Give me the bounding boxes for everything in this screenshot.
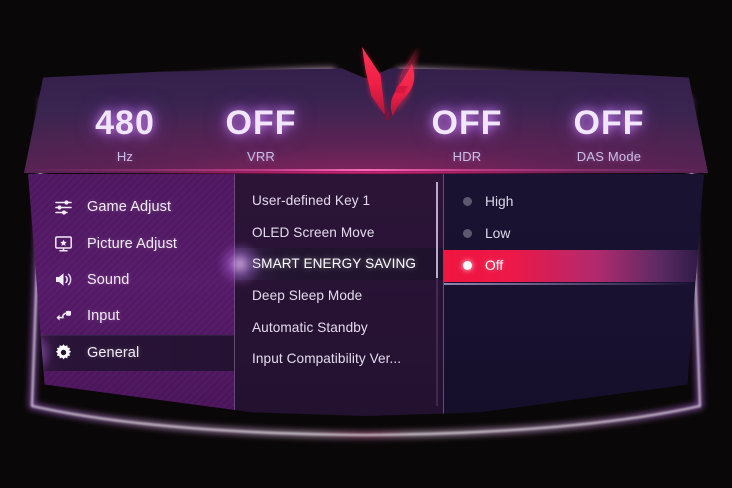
option-item-low[interactable]: Low [444, 217, 708, 249]
submenu-item-oled-screen-move[interactable]: OLED Screen Move [235, 217, 443, 249]
sidebar-item-label: General [87, 345, 139, 361]
status-label: DAS Mode [534, 149, 684, 164]
status-value: OFF [534, 106, 684, 140]
submenu-item-automatic-standby[interactable]: Automatic Standby [235, 311, 443, 343]
submenu-scrollbar-thumb[interactable] [436, 182, 438, 278]
submenu-item-label: Input Compatibility Ver... [252, 351, 401, 366]
status-refresh-rate: 480 Hz [50, 106, 200, 164]
radio-icon [463, 229, 472, 238]
osd-menu: 480 Hz OFF VRR OFF HDR OFF DAS Mode [24, 68, 708, 416]
sidebar-item-label: Game Adjust [87, 199, 171, 215]
sidebar-item-general[interactable]: General [24, 335, 234, 371]
monitor-icon [54, 234, 73, 253]
option-item-high[interactable]: High [444, 185, 708, 217]
sidebar-item-label: Sound [87, 272, 129, 288]
screen: 480 Hz OFF VRR OFF HDR OFF DAS Mode [0, 0, 732, 488]
status-value: 480 [50, 106, 200, 140]
gear-icon [54, 343, 73, 362]
sidebar: Game Adjust Picture Adjust [24, 174, 234, 416]
submenu-item-label: Automatic Standby [252, 320, 368, 335]
speaker-icon [54, 270, 73, 289]
sidebar-item-sound[interactable]: Sound [24, 262, 234, 298]
sidebar-item-game-adjust[interactable]: Game Adjust [24, 189, 234, 225]
sliders-icon [54, 198, 73, 217]
osd-body: Game Adjust Picture Adjust [24, 174, 708, 416]
submenu-item-user-defined-key-1[interactable]: User-defined Key 1 [235, 185, 443, 217]
sidebar-item-label: Picture Adjust [87, 236, 177, 252]
option-item-off[interactable]: Off [444, 250, 708, 282]
status-label: HDR [392, 149, 542, 164]
option-item-label: High [485, 194, 513, 209]
status-value: OFF [186, 106, 336, 140]
radio-icon [463, 197, 472, 206]
status-label: VRR [186, 149, 336, 164]
sidebar-item-label: Input [87, 308, 120, 324]
submenu-item-input-compatibility-version[interactable]: Input Compatibility Ver... [235, 343, 443, 375]
sidebar-item-input[interactable]: Input [24, 298, 234, 334]
status-label: Hz [50, 149, 200, 164]
options-panel: High Low Off [444, 174, 708, 416]
radio-selected-icon [463, 261, 472, 270]
submenu-item-deep-sleep-mode[interactable]: Deep Sleep Mode [235, 280, 443, 312]
submenu-item-label: OLED Screen Move [252, 225, 374, 240]
submenu-item-smart-energy-saving[interactable]: SMART ENERGY SAVING [235, 248, 443, 280]
submenu-item-label: User-defined Key 1 [252, 193, 370, 208]
option-item-label: Low [485, 226, 510, 241]
status-das-mode: OFF DAS Mode [534, 106, 684, 164]
plug-icon [54, 307, 73, 326]
submenu-scrollbar[interactable] [436, 182, 438, 406]
submenu-item-label: SMART ENERGY SAVING [252, 256, 416, 271]
status-vrr: OFF VRR [186, 106, 336, 164]
submenu-item-label: Deep Sleep Mode [252, 288, 362, 303]
option-item-label: Off [485, 258, 503, 273]
lg-ultragear-logo-icon [340, 46, 440, 120]
submenu-panel: User-defined Key 1 OLED Screen Move SMAR… [234, 174, 444, 416]
sidebar-item-picture-adjust[interactable]: Picture Adjust [24, 225, 234, 261]
